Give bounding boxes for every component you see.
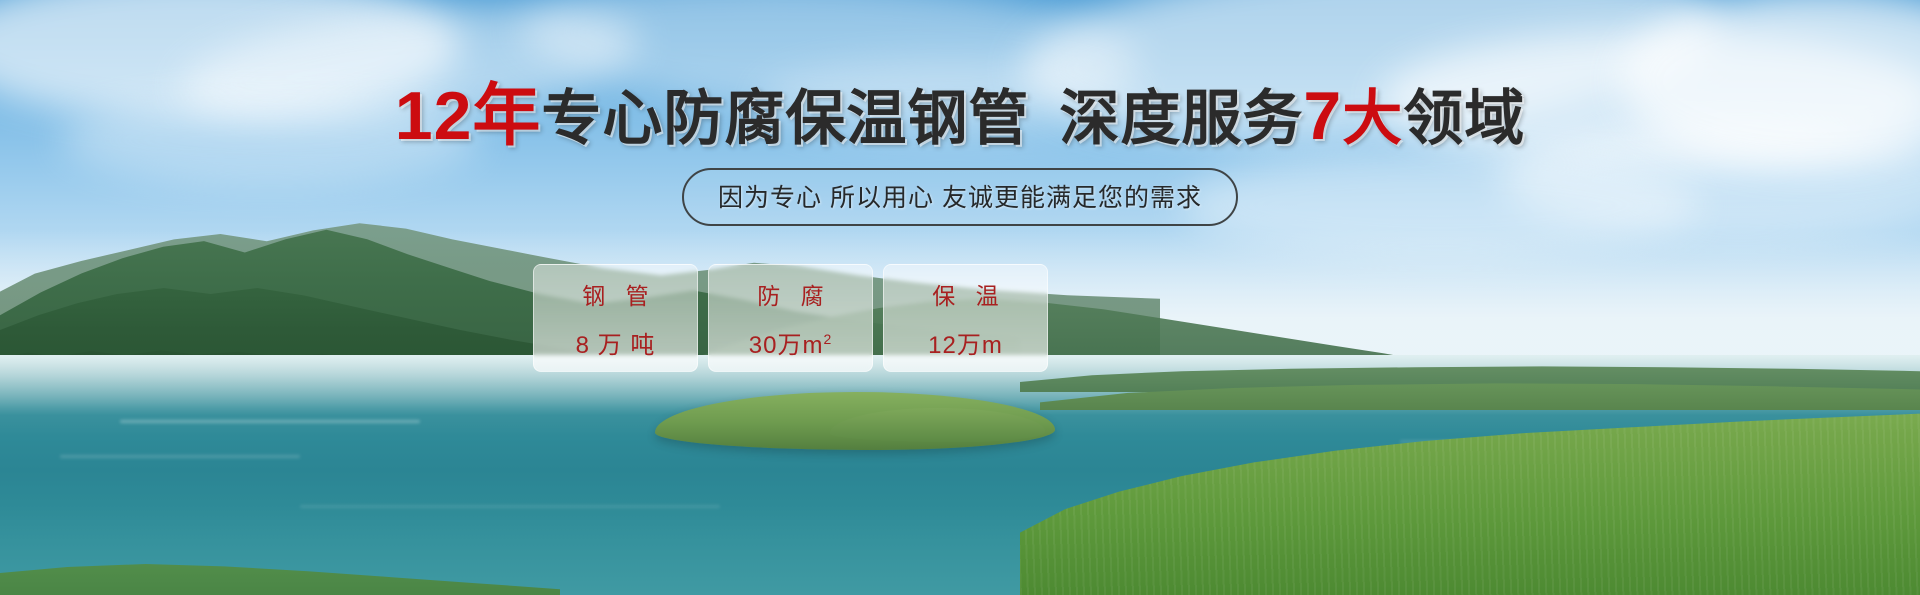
promo-banner: 12年专心防腐保温钢管深度服务7大领域 因为专心 所以用心 友诚更能满足您的需求…: [0, 0, 1920, 595]
stat-card: 钢 管 8 万 吨: [533, 264, 698, 372]
headline-fields: 领域: [1403, 85, 1525, 152]
stat-card-value-superscript: 2: [823, 331, 832, 347]
headline-main: 专心防腐保温钢管: [541, 85, 1029, 152]
stat-card: 保 温 12万m: [883, 264, 1048, 372]
stat-card-label: 钢 管: [575, 277, 655, 311]
headline-years: 12年: [395, 78, 542, 154]
stat-card: 防 腐 30万m2: [708, 264, 873, 372]
headline-service: 深度服务: [1059, 85, 1303, 152]
subtitle-pill: 因为专心 所以用心 友诚更能满足您的需求: [682, 168, 1238, 226]
banner-content: 12年专心防腐保温钢管深度服务7大领域 因为专心 所以用心 友诚更能满足您的需求…: [0, 0, 1920, 595]
stat-card-value-main: 30万m: [749, 332, 824, 359]
stat-card-value: 12万m: [928, 325, 1003, 360]
subtitle-container: 因为专心 所以用心 友诚更能满足您的需求: [0, 168, 1920, 226]
headline-da: 大: [1342, 85, 1403, 152]
stat-card-label: 防 腐: [750, 277, 830, 311]
stat-card-label: 保 温: [925, 277, 1005, 311]
headline-fields-count: 7: [1303, 78, 1342, 154]
stat-card-value: 8 万 吨: [576, 325, 656, 360]
stat-card-value: 30万m2: [749, 325, 832, 360]
page-title: 12年专心防腐保温钢管深度服务7大领域: [0, 82, 1920, 150]
stats-card-group: 钢 管 8 万 吨 防 腐 30万m2 保 温 12万m: [533, 264, 1048, 372]
stat-card-value-main: 8 万 吨: [576, 332, 656, 359]
stat-card-value-main: 12万m: [928, 332, 1003, 359]
